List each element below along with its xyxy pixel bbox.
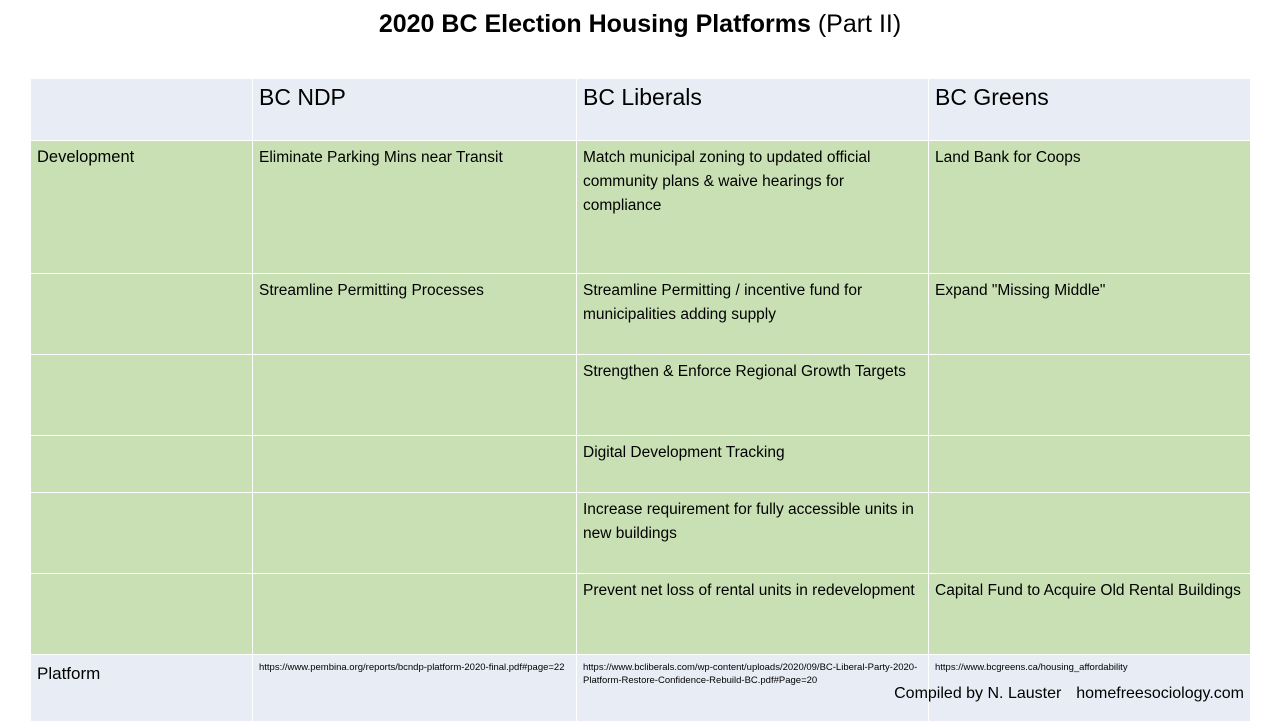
credit-line: Compiled by N. Lauster homefreesociology…	[894, 684, 1244, 704]
cell-greens-3	[929, 355, 1251, 436]
cell-greens-4	[929, 436, 1251, 493]
cell-ndp-2: Streamline Permitting Processes	[253, 274, 577, 355]
platform-url-liberals[interactable]: https://www.bcliberals.com/wp-content/up…	[577, 655, 929, 722]
credit-website: homefreesociology.com	[1076, 685, 1244, 702]
row-label-3	[31, 355, 253, 436]
cell-liberals-4: Digital Development Tracking	[577, 436, 929, 493]
cell-ndp-4	[253, 436, 577, 493]
table-row: Prevent net loss of rental units in rede…	[31, 574, 1251, 655]
row-label-5	[31, 493, 253, 574]
row-label-6	[31, 574, 253, 655]
cell-liberals-6: Prevent net loss of rental units in rede…	[577, 574, 929, 655]
cell-greens-6: Capital Fund to Acquire Old Rental Build…	[929, 574, 1251, 655]
table-row: Strengthen & Enforce Regional Growth Tar…	[31, 355, 1251, 436]
table-row: Digital Development Tracking	[31, 436, 1251, 493]
page-title-main: 2020 BC Election Housing Platforms	[379, 10, 811, 38]
column-header-blank	[31, 79, 253, 141]
cell-greens-5	[929, 493, 1251, 574]
credit-author: Compiled by N. Lauster	[894, 685, 1061, 702]
housing-platform-table: BC NDP BC Liberals BC Greens Development…	[30, 78, 1251, 722]
cell-greens-2: Expand "Missing Middle"	[929, 274, 1251, 355]
cell-liberals-1: Match municipal zoning to updated offici…	[577, 141, 929, 274]
column-header-bc-ndp: BC NDP	[253, 79, 577, 141]
column-header-bc-liberals: BC Liberals	[577, 79, 929, 141]
table-row: Increase requirement for fully accessibl…	[31, 493, 1251, 574]
column-header-bc-greens: BC Greens	[929, 79, 1251, 141]
table-row: Development Eliminate Parking Mins near …	[31, 141, 1251, 274]
page-title: 2020 BC Election Housing Platforms (Part…	[0, 8, 1280, 40]
cell-greens-1: Land Bank for Coops	[929, 141, 1251, 274]
table-row: Streamline Permitting Processes Streamli…	[31, 274, 1251, 355]
cell-ndp-3	[253, 355, 577, 436]
page-title-suffix: (Part II)	[818, 10, 901, 38]
table-header-row: BC NDP BC Liberals BC Greens	[31, 79, 1251, 141]
row-label-2	[31, 274, 253, 355]
table-body: Development Eliminate Parking Mins near …	[31, 141, 1251, 722]
cell-liberals-5: Increase requirement for fully accessibl…	[577, 493, 929, 574]
row-label-4	[31, 436, 253, 493]
cell-ndp-1: Eliminate Parking Mins near Transit	[253, 141, 577, 274]
cell-liberals-3: Strengthen & Enforce Regional Growth Tar…	[577, 355, 929, 436]
cell-ndp-6	[253, 574, 577, 655]
cell-ndp-5	[253, 493, 577, 574]
row-label-development: Development	[31, 141, 253, 274]
table-header: BC NDP BC Liberals BC Greens	[31, 79, 1251, 141]
cell-liberals-2: Streamline Permitting / incentive fund f…	[577, 274, 929, 355]
platform-url-ndp[interactable]: https://www.pembina.org/reports/bcndp-pl…	[253, 655, 577, 722]
row-label-platform: Platform	[31, 655, 253, 722]
